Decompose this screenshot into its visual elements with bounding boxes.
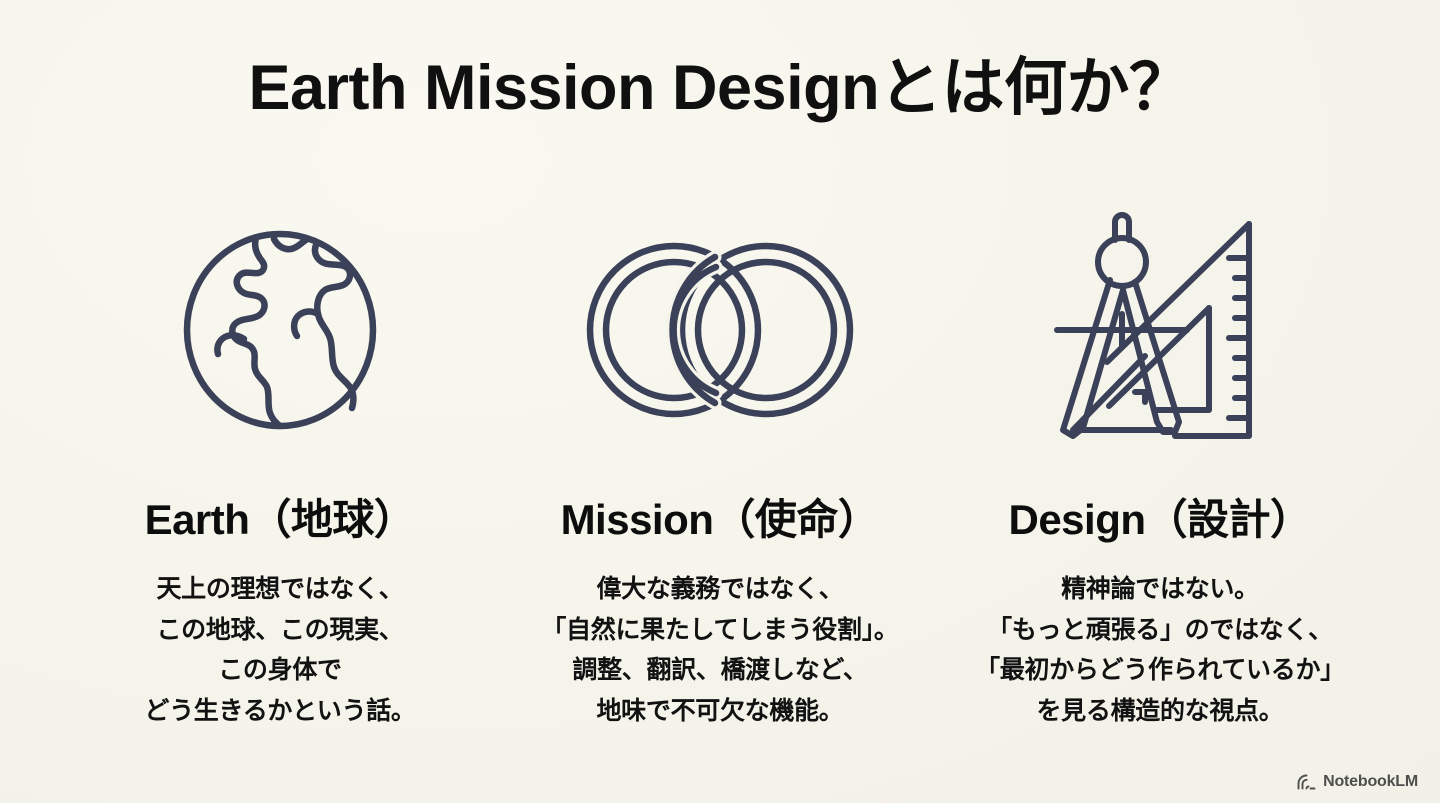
body-line: この地球、この現実、 — [144, 610, 415, 651]
body-line: 精神論ではない。 — [975, 569, 1345, 610]
body-line: 「自然に果たしてしまう役割」。 — [541, 610, 898, 651]
concept-column-mission: Mission（使命） 偉大な義務ではなく、 「自然に果たしてしまう役割」。 調… — [510, 205, 930, 731]
concept-body-earth: 天上の理想ではなく、 この地球、この現実、 この身体で どう生きるかという話。 — [144, 569, 415, 731]
body-line: 地味で不可欠な機能。 — [541, 691, 898, 732]
page-title: Earth Mission Designとは何か？ — [0, 52, 1440, 124]
body-line: 偉大な義務ではなく、 — [541, 569, 898, 610]
compass-ruler-icon — [1049, 205, 1271, 455]
body-line: 天上の理想ではなく、 — [144, 569, 415, 610]
body-line: 「もっと頑張る」のではなく、 — [975, 610, 1345, 651]
concept-body-design: 精神論ではない。 「もっと頑張る」のではなく、 「最初からどう作られているか」 … — [975, 569, 1345, 731]
concept-column-design: Design（設計） 精神論ではない。 「もっと頑張る」のではなく、 「最初から… — [950, 205, 1370, 731]
body-line: どう生きるかという話。 — [144, 691, 415, 732]
concept-column-earth: Earth（地球） 天上の理想ではなく、 この地球、この現実、 この身体で どう… — [70, 205, 490, 731]
body-line: を見る構造的な視点。 — [975, 691, 1345, 732]
body-line: 調整、翻訳、橋渡しなど、 — [541, 650, 898, 691]
notebooklm-watermark: NotebookLM — [1297, 773, 1418, 791]
concept-heading-mission: Mission（使命） — [561, 497, 880, 543]
concept-heading-design: Design（設計） — [1008, 497, 1311, 543]
concept-columns: Earth（地球） 天上の理想ではなく、 この地球、この現実、 この身体で どう… — [70, 205, 1370, 731]
notebooklm-logo-icon — [1297, 774, 1316, 790]
slide-canvas: Earth Mission Designとは何か？ Earth（地球） 天上の理… — [0, 0, 1440, 803]
concept-body-mission: 偉大な義務ではなく、 「自然に果たしてしまう役割」。 調整、翻訳、橋渡しなど、 … — [541, 569, 898, 731]
earth-globe-icon — [182, 205, 378, 455]
concept-heading-earth: Earth（地球） — [145, 497, 416, 543]
interlocking-rings-icon — [587, 205, 853, 455]
notebooklm-label: NotebookLM — [1323, 773, 1418, 791]
body-line: この身体で — [144, 650, 415, 691]
body-line: 「最初からどう作られているか」 — [975, 650, 1345, 691]
